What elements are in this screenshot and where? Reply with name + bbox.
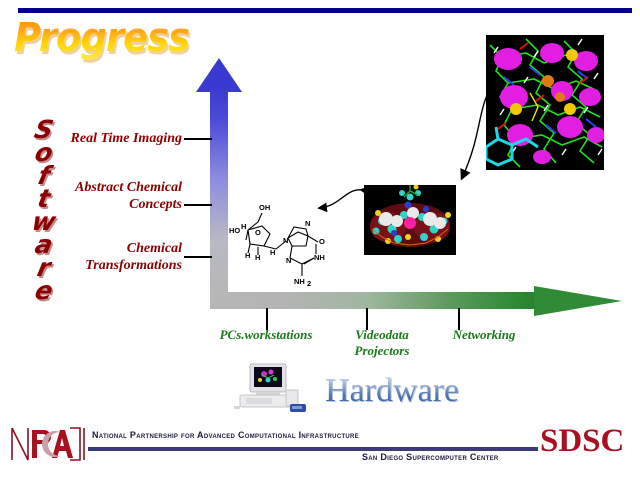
sdsc-logo: SDSC [540,424,624,458]
svg-text:N: N [286,256,291,265]
connector-arrow-center-image-to-top-image [440,78,508,190]
horizontal-axis-label-3: Networking [438,327,530,343]
horizontal-axis-title: Hardware [325,372,459,410]
footer-divider-rule [88,447,538,451]
svg-text:H: H [241,222,246,231]
page-title: Progress [14,16,189,60]
software-letter-e: e [14,279,75,302]
vertical-tick-1 [184,138,212,140]
svg-text:OH: OH [259,203,270,212]
horizontal-axis-label-1-line1: PCs.workstations [206,327,326,343]
vertical-axis-label-2-line1: Abstract Chemical [22,179,182,196]
npaci-logo [8,424,88,464]
slide-canvas: Progress S o f t w a r e Real Time Imagi… [0,0,640,480]
horizontal-axis-arrowhead [534,286,622,316]
svg-text:O: O [319,237,325,246]
svg-text:NH: NH [294,277,305,286]
svg-text:O: O [255,228,261,237]
vertical-tick-3 [184,256,212,258]
horizontal-axis-label-2-line1: Videodata [334,327,430,343]
vertical-axis-label-3: Chemical Transformations [22,240,182,274]
footer-organization-name: National Partnership for Advanced Comput… [92,430,359,440]
vertical-tick-2 [184,204,212,206]
top-divider-rule [18,8,632,13]
svg-text:H: H [270,248,275,257]
connector-arrow-molecule-to-center-image [306,182,378,234]
vertical-axis-label-2: Abstract Chemical Concepts [22,179,182,213]
vertical-axis-arrowhead [196,58,242,92]
horizontal-axis-label-1: PCs.workstations [206,327,326,343]
vertical-axis-shaft [210,88,228,306]
svg-text:2: 2 [307,279,311,288]
vertical-axis-label-1: Real Time Imaging [22,130,182,147]
svg-text:H: H [255,253,260,262]
horizontal-axis-label-3-line1: Networking [438,327,530,343]
vertical-axis-label-2-line2: Concepts [22,196,182,213]
horizontal-axis-label-2-line2: Projectors [334,343,430,359]
svg-text:N: N [283,236,288,245]
vertical-axis-label-3-line1: Chemical [22,240,182,257]
svg-text:NH: NH [314,253,325,262]
svg-text:HO: HO [229,226,240,235]
footer-center-name: San Diego Supercomputer Center [362,452,499,462]
horizontal-axis-label-2: Videodata Projectors [334,327,430,359]
svg-text:H: H [245,251,250,260]
vertical-axis-label-3-line2: Transformations [22,257,182,274]
vertical-axis-label-1-line1: Real Time Imaging [22,130,182,147]
desktop-computer-image [232,362,310,414]
